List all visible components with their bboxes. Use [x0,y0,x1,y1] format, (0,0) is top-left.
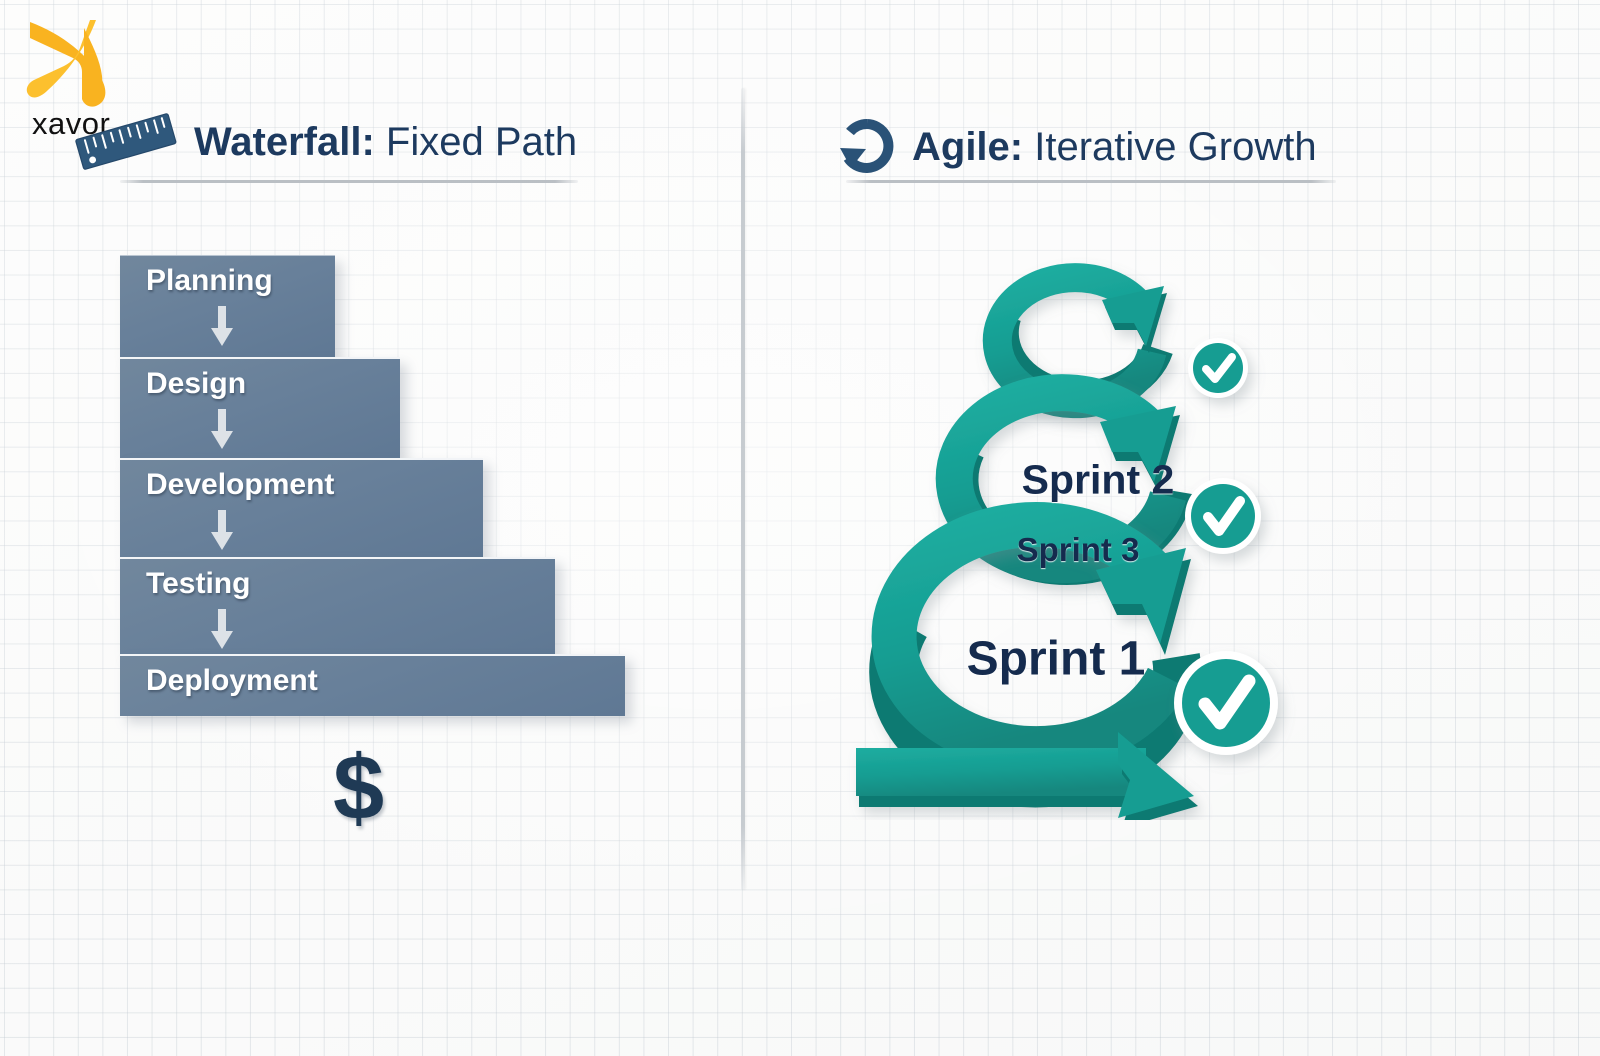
step-label: Design [146,367,246,401]
check-badge-sprint-1 [1174,651,1278,755]
check-badge-sprint-3 [1188,338,1248,398]
agile-title-rule [846,180,1336,183]
waterfall-step-planning[interactable]: Planning [120,255,335,357]
sprint-label-3: Sprint 3 [1017,531,1140,569]
xavor-x-logo-icon [24,16,134,111]
step-label: Deployment [146,664,318,698]
agile-title: Agile: Iterative Growth [912,125,1317,170]
down-arrow-icon [208,409,236,451]
waterfall-staircase: Planning Design Development Testing Depl [120,255,625,716]
step-label: Testing [146,567,250,601]
waterfall-step-deployment[interactable]: Deployment [120,654,625,716]
agile-sprint-loops: Sprint 3 Sprint 2 Sprint 1 [846,240,1306,820]
waterfall-title: Waterfall: Fixed Path [194,120,577,165]
waterfall-heading: Waterfall: Fixed Path [72,112,577,172]
waterfall-step-development[interactable]: Development [120,458,483,557]
agile-title-light: Iterative Growth [1034,125,1316,169]
agile-heading: Agile: Iterative Growth [836,118,1317,176]
panel-divider [741,88,745,890]
step-label: Planning [146,264,273,298]
down-arrow-icon [208,306,236,348]
waterfall-title-rule [120,180,578,183]
ruler-icon [72,112,180,172]
waterfall-title-light: Fixed Path [386,120,577,164]
step-label: Development [146,468,334,502]
down-arrow-icon [208,510,236,552]
waterfall-step-testing[interactable]: Testing [120,557,555,654]
sprint-label-1: Sprint 1 [967,632,1146,687]
infographic-canvas: xavor [0,0,1600,1056]
cost-dollar-icon: $ [333,742,384,834]
agile-title-strong: Agile: [912,125,1023,169]
refresh-loop-icon [836,118,898,176]
down-arrow-icon [208,609,236,651]
waterfall-step-design[interactable]: Design [120,357,400,458]
sprint-label-2: Sprint 2 [1022,457,1175,504]
waterfall-title-strong: Waterfall: [194,120,375,164]
check-badge-sprint-2 [1185,478,1261,554]
